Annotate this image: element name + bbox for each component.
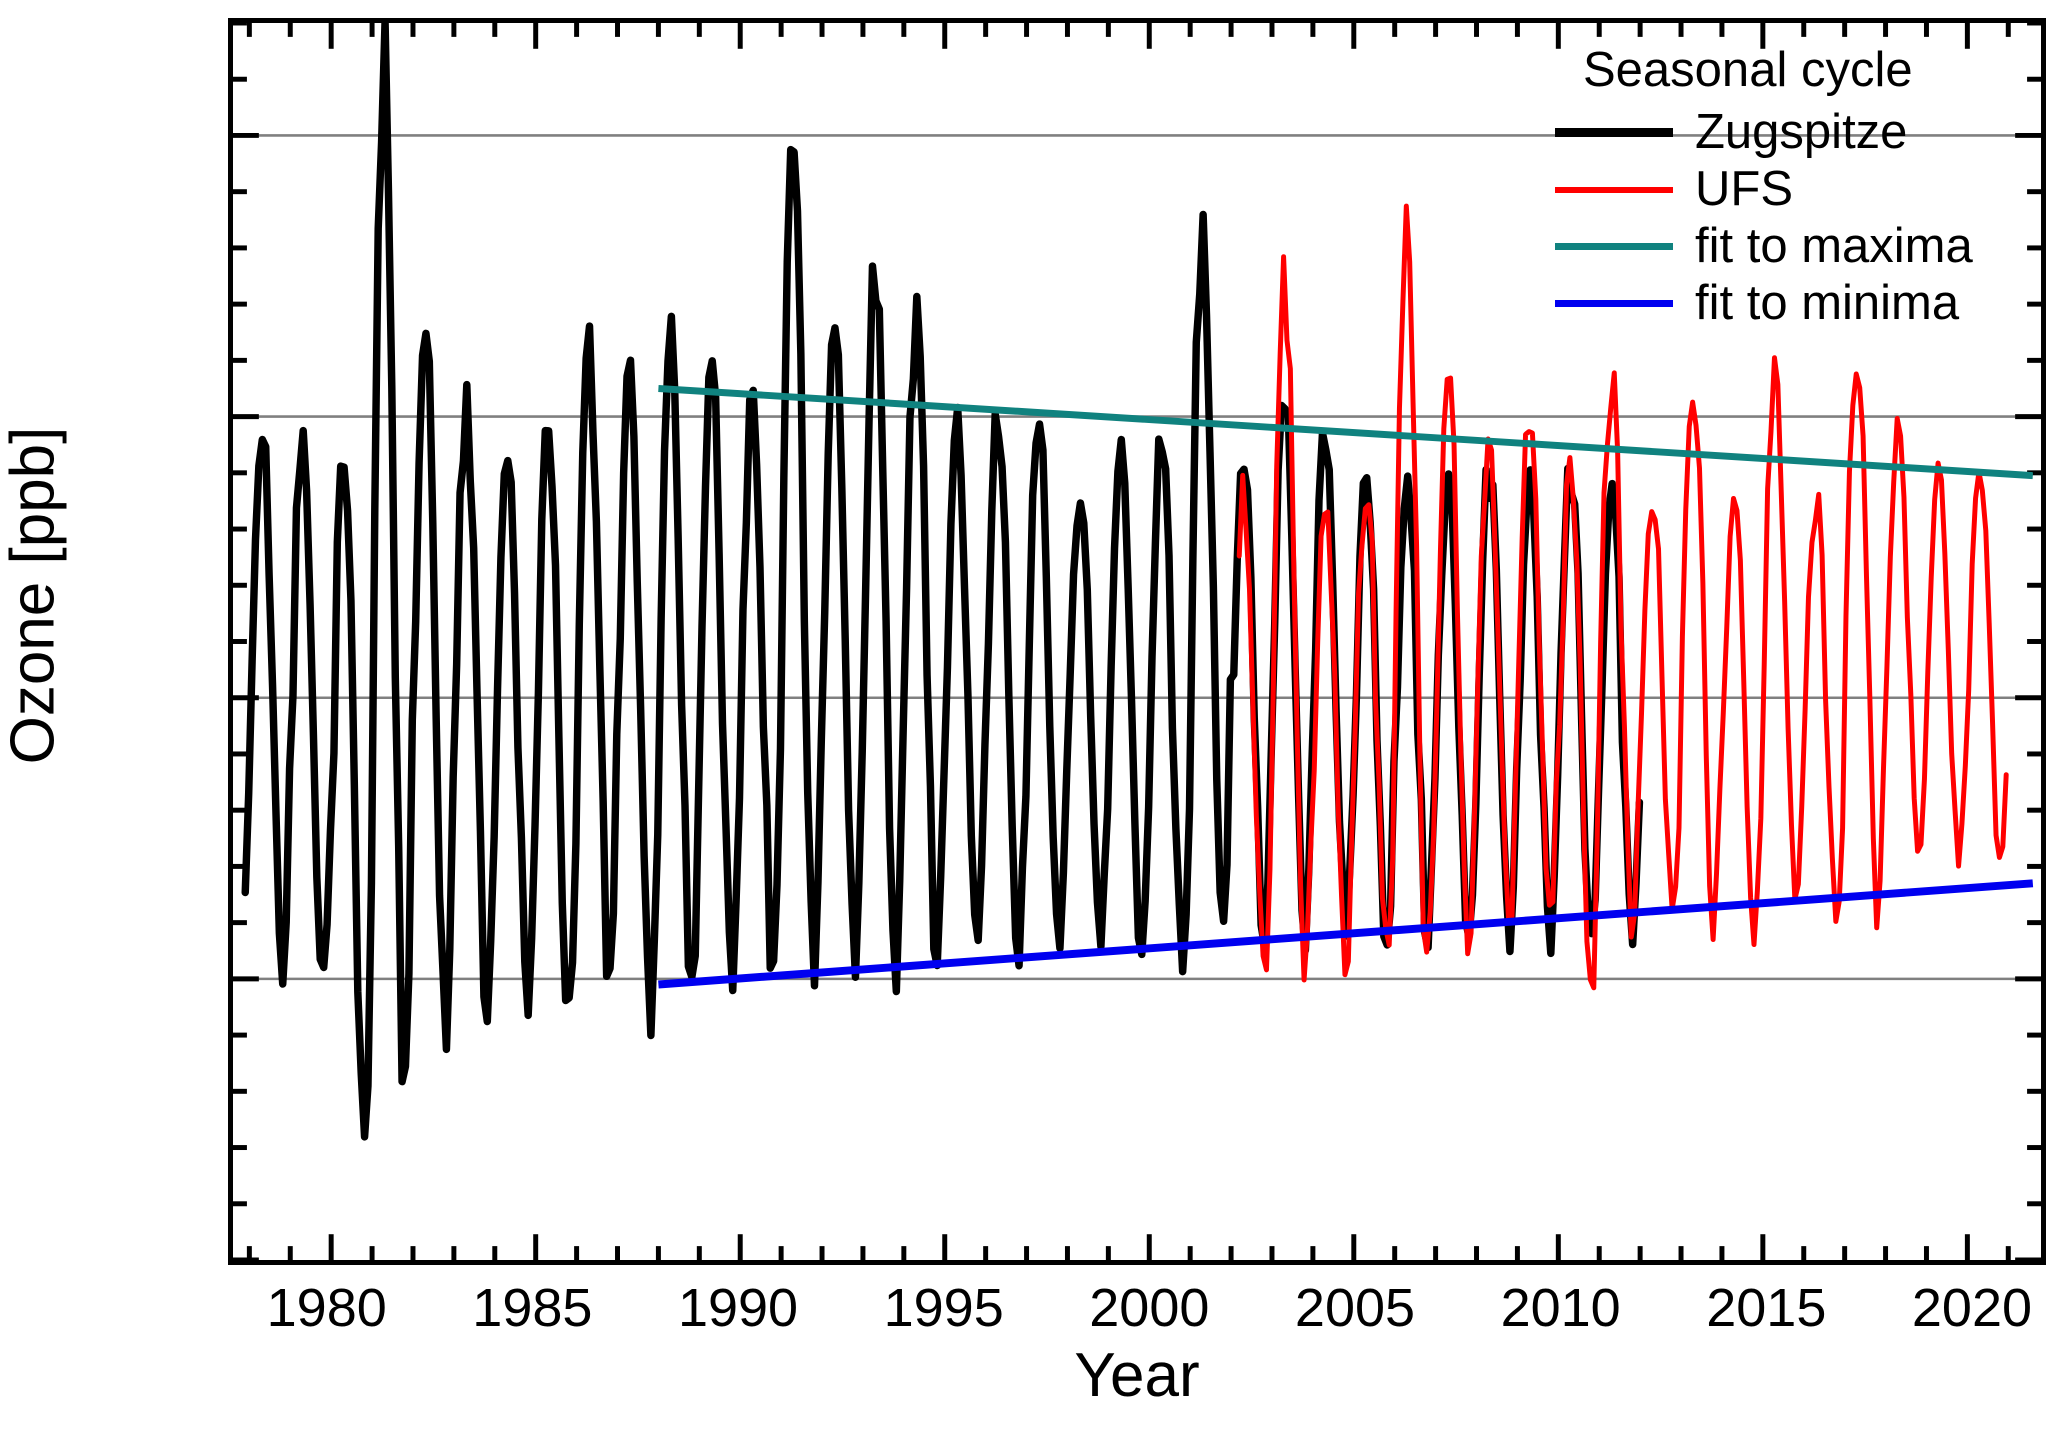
legend-title: Seasonal cycle xyxy=(1583,42,2035,98)
legend-entries: ZugspitzeUFSfit to maximafit to minima xyxy=(1555,104,2035,332)
legend-item-fit-to-minima[interactable]: fit to minima xyxy=(1555,275,2035,332)
x-tick-label: 2010 xyxy=(1451,1281,1671,1335)
legend-swatch-fit-to-maxima xyxy=(1555,243,1673,250)
x-tick-label: 1985 xyxy=(422,1281,642,1335)
y-axis-title: Ozone [ppb] xyxy=(0,166,69,1026)
legend-label: fit to maxima xyxy=(1695,222,1973,271)
x-tick-label: 2015 xyxy=(1656,1281,1876,1335)
series-Zugspitze xyxy=(245,23,1639,1137)
legend-item-fit-to-maxima[interactable]: fit to maxima xyxy=(1555,218,2035,275)
legend-swatch-ufs xyxy=(1555,187,1673,193)
x-axis-title: Year xyxy=(228,1340,2046,1411)
legend-label: UFS xyxy=(1695,165,1793,214)
x-tick-label: 2000 xyxy=(1039,1281,1259,1335)
legend-item-ufs[interactable]: UFS xyxy=(1555,161,2035,218)
ozone-seasonal-cycle-chart: Ozone [ppb] Year 20100-10-20 19801985199… xyxy=(0,0,2067,1447)
x-tick-label: 2005 xyxy=(1245,1281,1465,1335)
legend-item-zugspitze[interactable]: Zugspitze xyxy=(1555,104,2035,161)
x-tick-label: 1980 xyxy=(217,1281,437,1335)
legend-swatch-fit-to-minima xyxy=(1555,300,1673,307)
legend-swatch-zugspitze xyxy=(1555,128,1673,137)
x-tick-label: 2020 xyxy=(1862,1281,2067,1335)
legend-label: fit to minima xyxy=(1695,279,1959,328)
legend-label: Zugspitze xyxy=(1695,108,1907,157)
x-tick-label: 1995 xyxy=(834,1281,1054,1335)
chart-legend: Seasonal cycle ZugspitzeUFSfit to maxima… xyxy=(1555,42,2035,332)
x-tick-label: 1990 xyxy=(628,1281,848,1335)
